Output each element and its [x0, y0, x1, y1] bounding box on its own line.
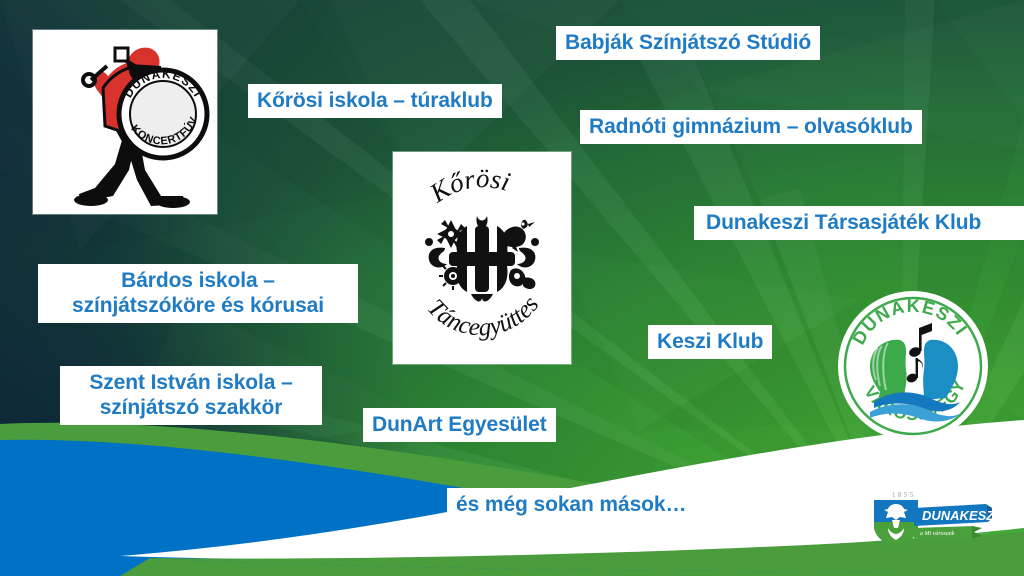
- logo-dunakeszi-koncertfuvosok: DUNAKESZI KONCERTFÚVÓSOK: [33, 30, 217, 214]
- label-babjak-szinjatszo-studio: Babják Színjátszó Stúdió: [556, 26, 820, 60]
- label-es-meg-sokan-masok: és még sokan mások…: [447, 488, 695, 522]
- label-szent-istvan-iskola-szinjatszo-szakkor: Szent István iskola – színjátszó szakkör: [60, 366, 322, 425]
- label-bardos-iskola-szinjatszokore-es-korusai: Bárdos iskola – színjátszóköre és kórusa…: [38, 264, 358, 323]
- label-dunart-egyesulet: DunArt Egyesület: [363, 408, 556, 442]
- city-logo-wordmark: DUNAKESZI: [922, 508, 992, 523]
- label-dunakeszi-tarsasjatek-klub: Dunakeszi Társasjáték Klub: [694, 206, 1024, 240]
- label-keszi-klub: Keszi Klub: [648, 325, 772, 359]
- logo-dunakeszi-city: 1855 DUNAKESZI a Mi városunk: [862, 488, 992, 550]
- slide-canvas: DUNAKESZI KONCERTFÚVÓSOK Kőrösi Táncegyü…: [0, 0, 1024, 576]
- city-logo-year: 1855: [892, 491, 916, 499]
- logo-dunakeszi-varosi-vegyeskar: DUNAKESZI VÁROSI VEGYESKAR: [818, 290, 1008, 442]
- city-logo-tagline: a Mi városunk: [920, 531, 955, 537]
- label-radnoti-gimnazium-olvasoklub: Radnóti gimnázium – olvasóklub: [580, 110, 922, 144]
- label-korosi-iskola-turaklub: Kőrösi iskola – túraklub: [248, 84, 502, 118]
- logo-korosi-tancegyuttes: Kőrösi Táncegyüttes: [393, 152, 571, 364]
